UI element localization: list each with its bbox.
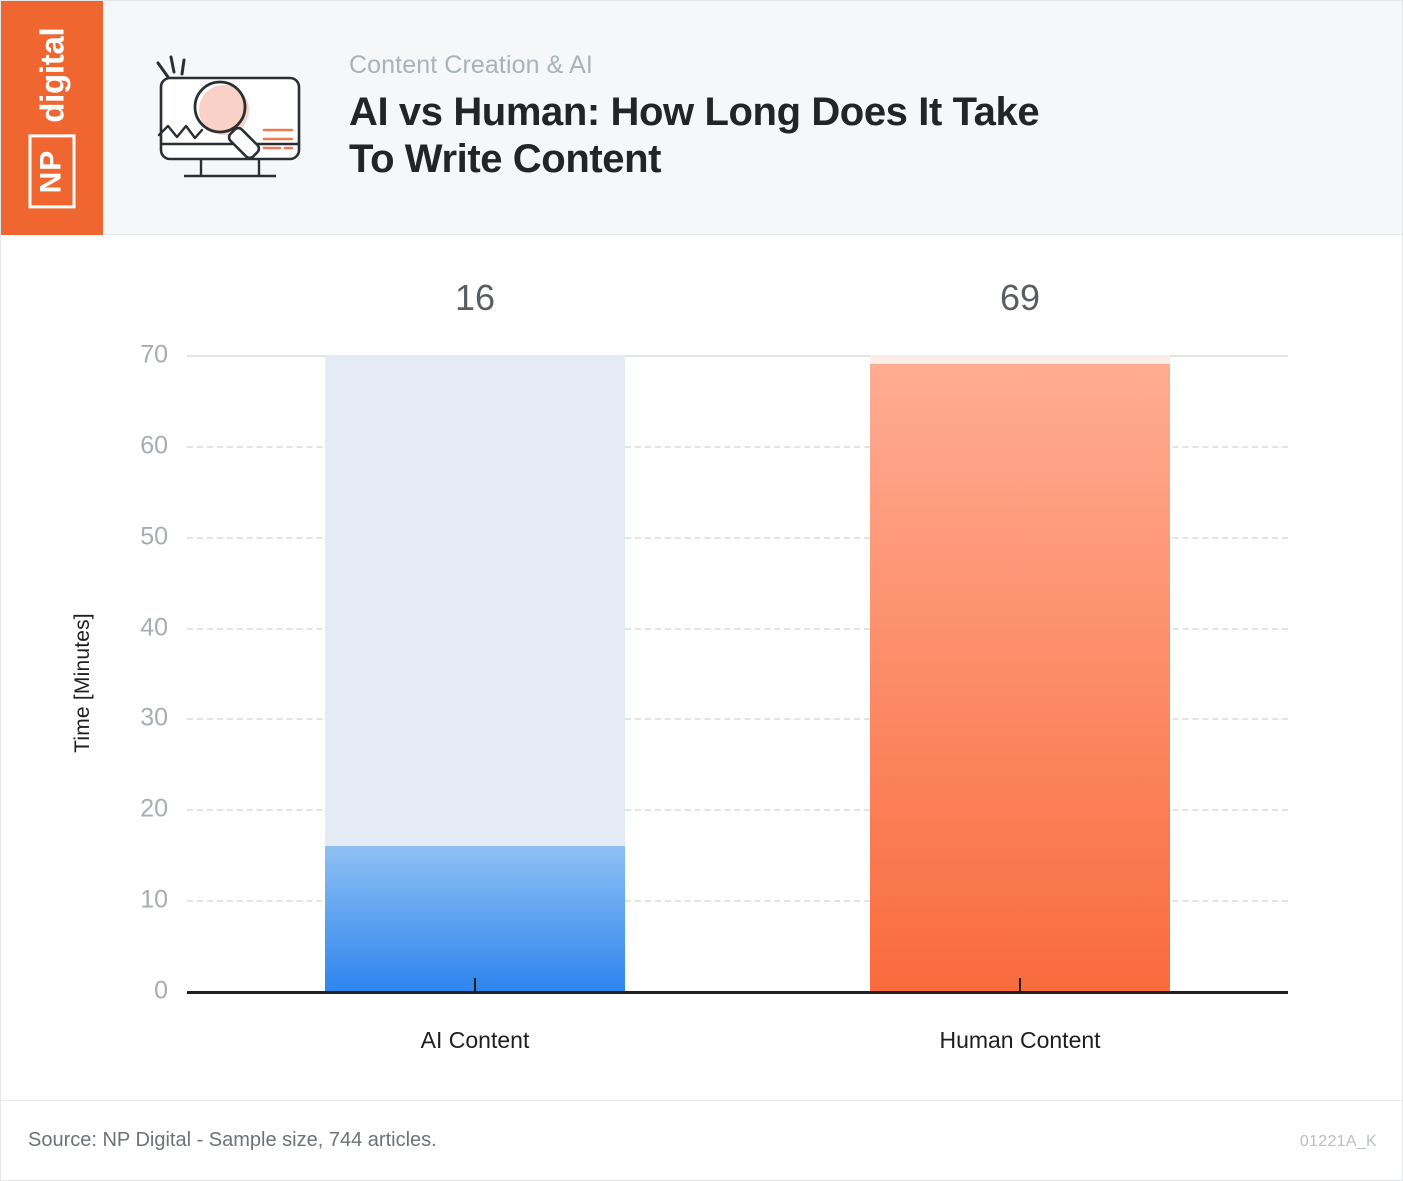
x-axis-label: AI Content (325, 1027, 625, 1054)
source-note: Source: NP Digital - Sample size, 744 ar… (28, 1129, 437, 1152)
y-axis-tick-label: 50 (108, 522, 168, 551)
page-title-line-2: To Write Content (349, 137, 661, 181)
bar-ai-content[interactable] (325, 846, 625, 991)
x-axis-tick (474, 978, 476, 994)
monitor-magnifier-icon (144, 47, 316, 197)
infographic-figure: NP digital (0, 0, 1403, 1181)
x-axis-tick (1019, 978, 1021, 994)
y-axis-tick-label: 0 (108, 977, 168, 1006)
bar-human-content[interactable] (870, 364, 1170, 991)
brand-mark: NP (29, 135, 76, 209)
chart-area: Time [Minutes] 706050403020100 1669 AI C… (1, 235, 1403, 1100)
y-axis-tick-label: 40 (108, 613, 168, 642)
brand-logo: NP digital (29, 28, 76, 209)
brand-bar: NP digital (1, 1, 103, 235)
asset-code: 01221A_K (1300, 1133, 1377, 1151)
x-axis-line (187, 991, 1288, 994)
y-axis-tick-label: 70 (108, 341, 168, 370)
y-axis-label: Time [Minutes] (71, 593, 95, 773)
bar-value-label: 16 (325, 277, 625, 319)
page-title: AI vs Human: How Long Does It Take To Wr… (349, 89, 1249, 183)
bar-value-label: 69 (870, 277, 1170, 319)
footer: Source: NP Digital - Sample size, 744 ar… (1, 1100, 1403, 1181)
y-axis-tick-label: 10 (108, 886, 168, 915)
eyebrow-label: Content Creation & AI (349, 51, 593, 80)
y-axis-tick-label: 30 (108, 704, 168, 733)
y-axis-tick-label: 60 (108, 431, 168, 460)
header: NP digital (1, 1, 1403, 235)
y-axis-tick-label: 20 (108, 795, 168, 824)
x-axis-label: Human Content (870, 1027, 1170, 1054)
page-title-line-1: AI vs Human: How Long Does It Take (349, 90, 1039, 134)
brand-name: digital (36, 28, 69, 123)
